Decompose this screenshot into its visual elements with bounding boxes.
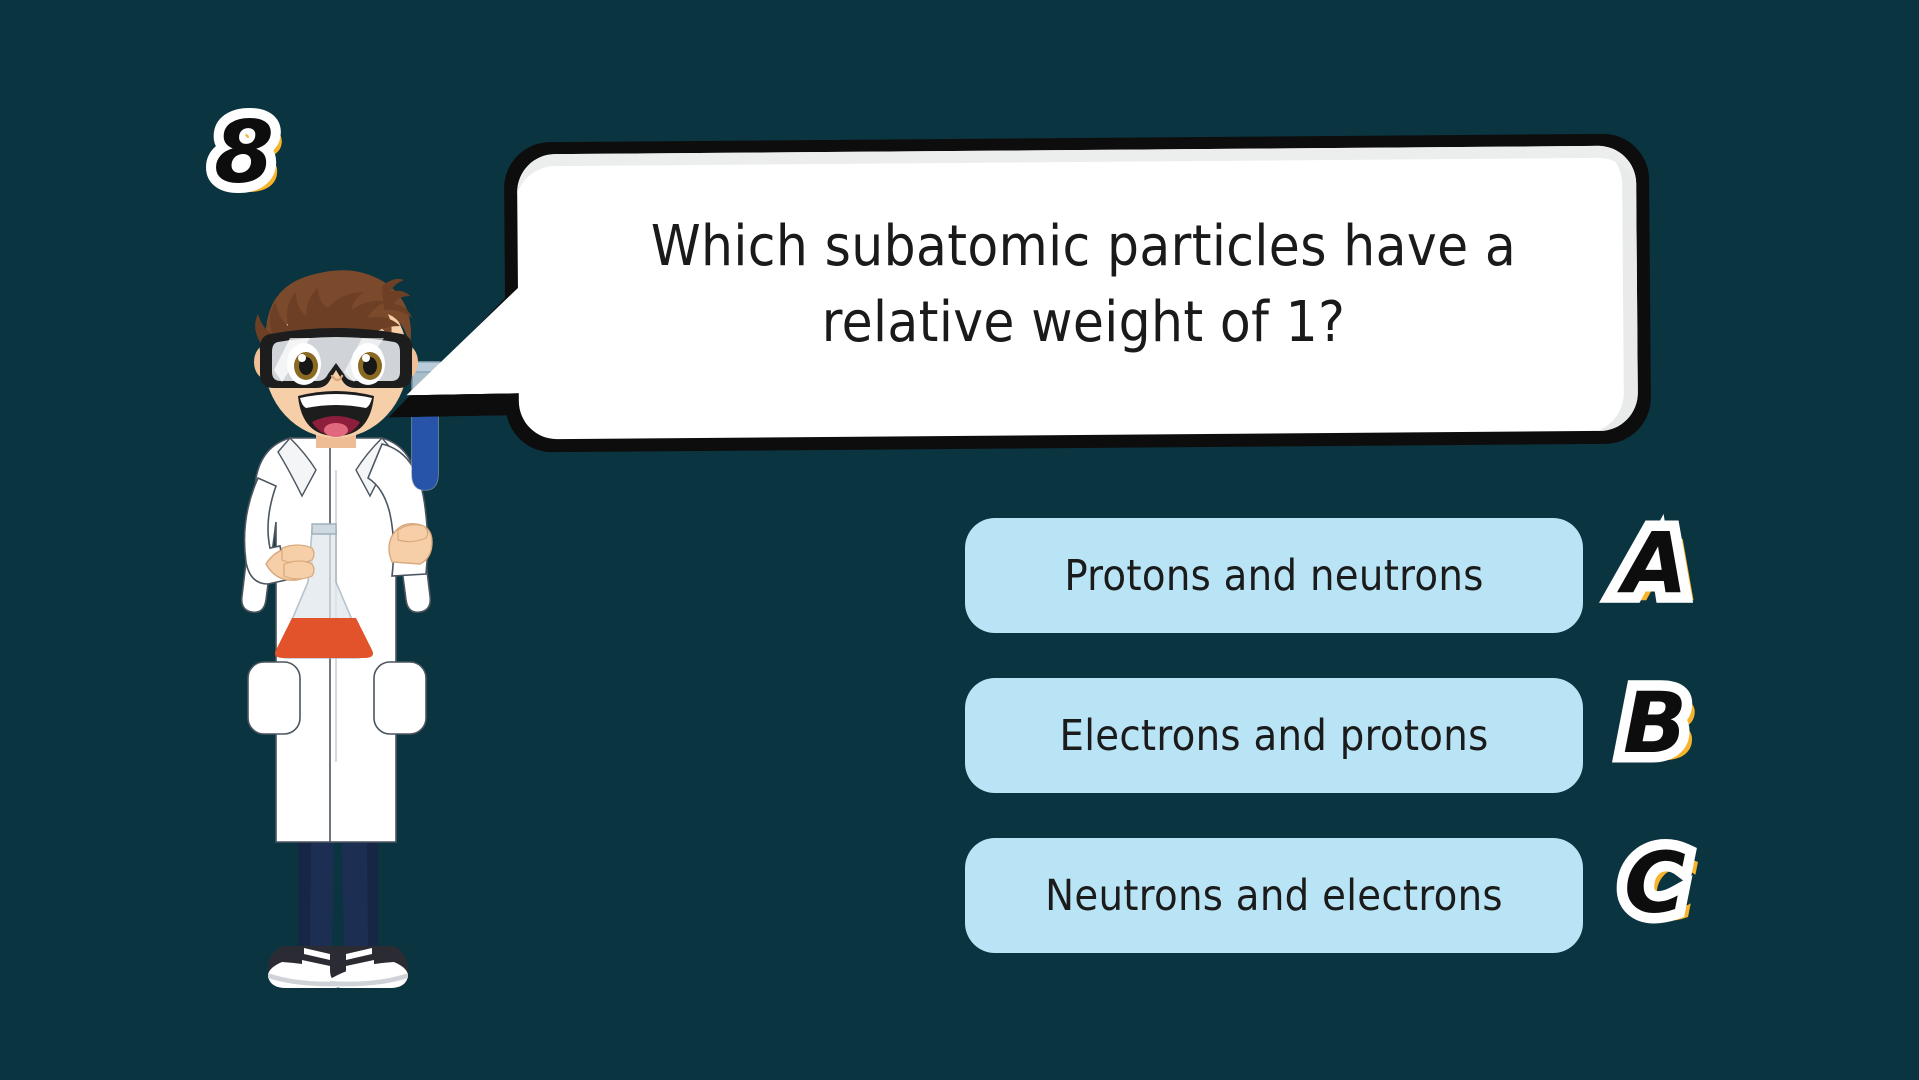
answer-label-c: Neutrons and electrons	[1019, 871, 1529, 921]
answer-option-b[interactable]: Electrons and protons B B B	[965, 678, 1725, 793]
question-text: Which subatomic particles have a relativ…	[565, 180, 1602, 408]
answer-options-list: Protons and neutrons A A A Electrons and…	[965, 518, 1725, 998]
answer-letter-a: A	[1605, 508, 1705, 618]
answer-pill-c[interactable]: Neutrons and electrons	[965, 838, 1583, 953]
answer-letter-badge-c: C C C	[1605, 828, 1705, 938]
answer-pill-b[interactable]: Electrons and protons	[965, 678, 1583, 793]
answer-label-b: Electrons and protons	[1033, 711, 1514, 761]
question-speech-bubble: Which subatomic particles have a relativ…	[505, 138, 1650, 448]
answer-option-a[interactable]: Protons and neutrons A A A	[965, 518, 1725, 633]
answer-letter-badge-b: B B B	[1605, 668, 1705, 778]
quiz-slide: 8 8 8	[0, 0, 1919, 1080]
answer-letter-b: B	[1605, 668, 1705, 778]
answer-label-a: Protons and neutrons	[1038, 551, 1509, 601]
answer-letter-badge-a: A A A	[1605, 508, 1705, 618]
question-number-text: 8	[196, 98, 292, 208]
answer-pill-a[interactable]: Protons and neutrons	[965, 518, 1583, 633]
answer-letter-c: C	[1605, 828, 1705, 938]
answer-option-c[interactable]: Neutrons and electrons C C C	[965, 838, 1725, 953]
question-number-badge: 8 8 8	[196, 98, 292, 208]
